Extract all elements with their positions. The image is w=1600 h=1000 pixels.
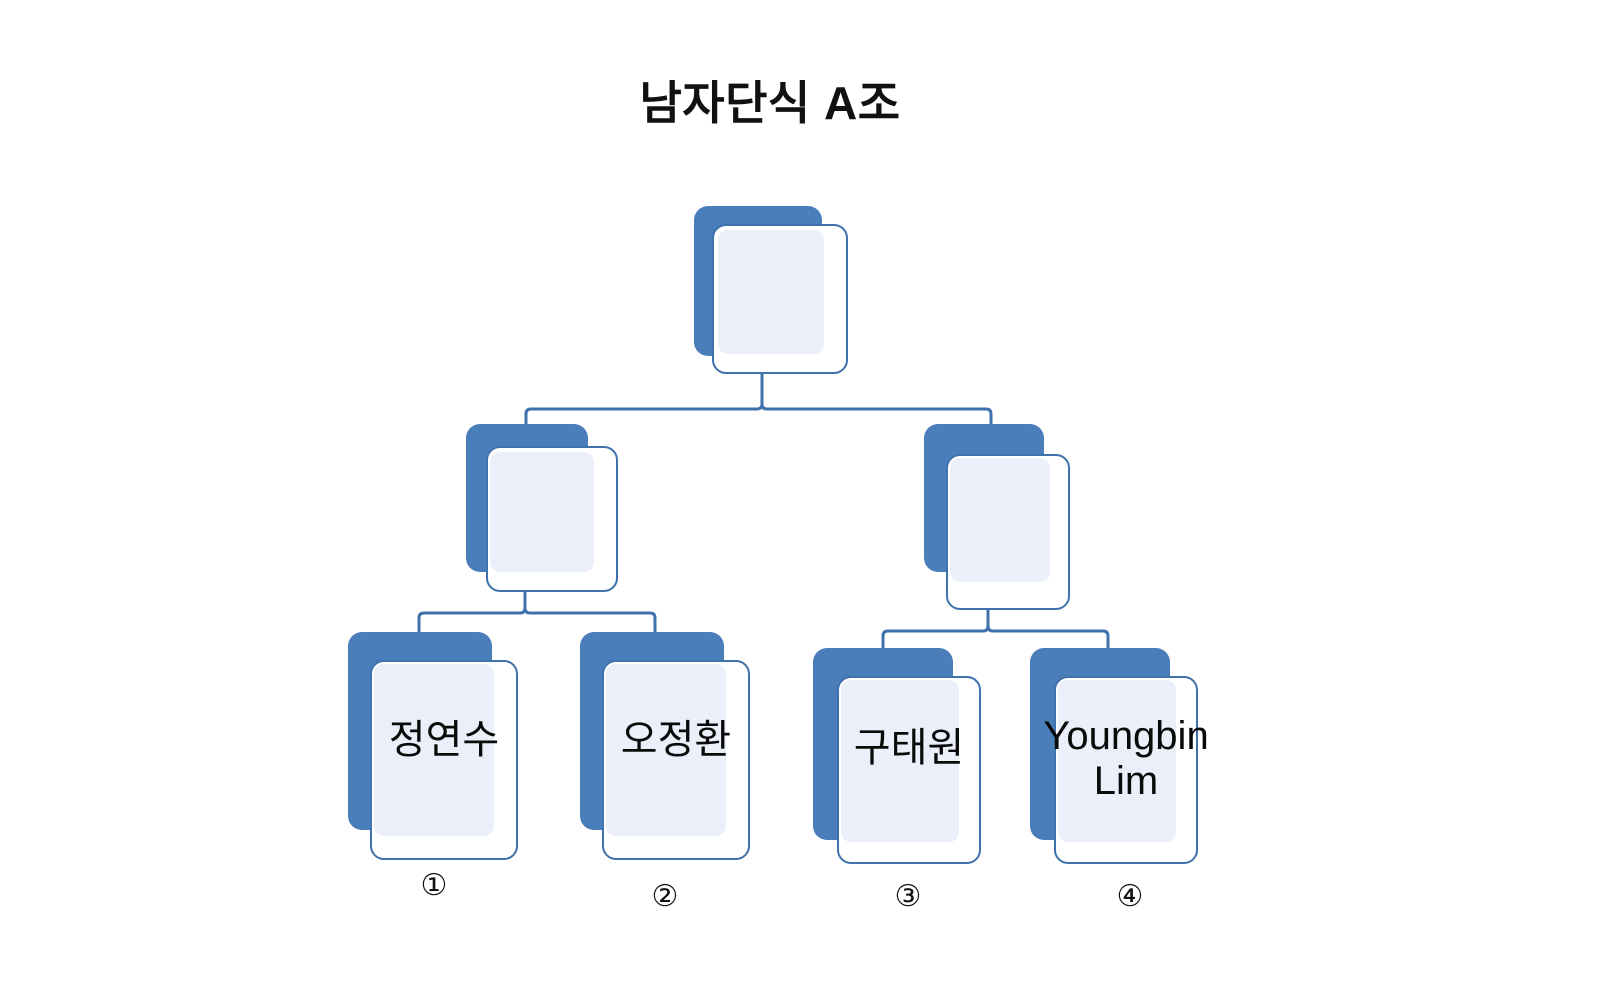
player-name: 정연수: [370, 718, 518, 763]
node-inner-panel: [950, 458, 1050, 582]
bracket-connectors: [0, 0, 1600, 1000]
bracket-node-player-1[interactable]: 정연수: [348, 632, 523, 860]
player-name: 오정환: [602, 718, 750, 763]
diagram-canvas: 남자단식 A조: [0, 0, 1600, 1000]
node-inner-panel: [490, 452, 594, 572]
seat-number-4: ④: [1100, 882, 1160, 912]
bracket-node-final[interactable]: [694, 206, 854, 374]
connector-root-split: [526, 372, 762, 430]
bracket-node-semifinal-left[interactable]: [466, 424, 622, 592]
seat-number-2: ②: [635, 882, 695, 912]
player-name: 구태원: [837, 726, 981, 771]
player-name: Youngbin Lim: [1022, 714, 1230, 804]
connector-semi-left-split: [419, 589, 525, 638]
seat-number-1: ①: [404, 871, 464, 901]
seat-number-3: ③: [878, 882, 938, 912]
bracket-node-player-3[interactable]: 구태원: [813, 648, 988, 864]
page-title: 남자단식 A조: [0, 78, 1540, 129]
node-inner-panel: [718, 230, 824, 354]
bracket-node-semifinal-right[interactable]: [924, 424, 1080, 610]
bracket-node-player-2[interactable]: 오정환: [580, 632, 755, 860]
bracket-node-player-4[interactable]: Youngbin Lim: [1030, 648, 1205, 864]
